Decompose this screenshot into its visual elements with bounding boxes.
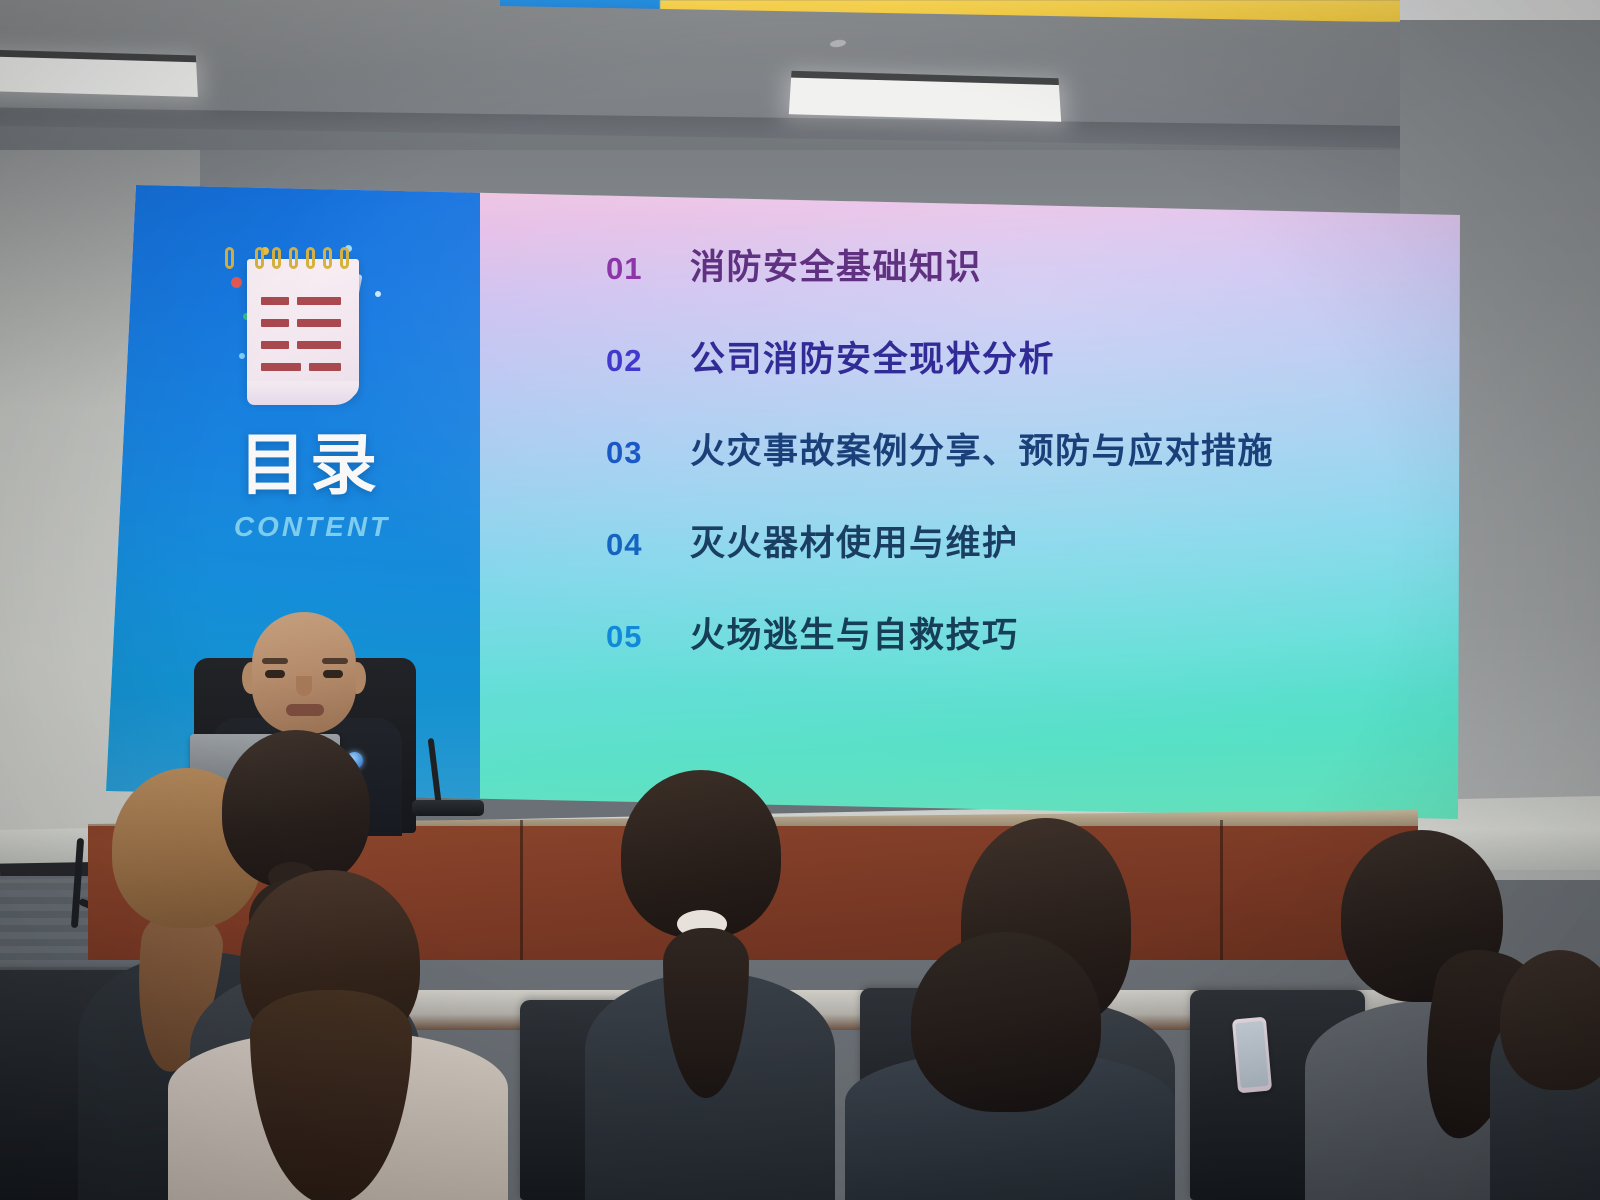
notepad-ring: [225, 247, 234, 269]
notepad-ring: [272, 247, 281, 269]
agenda-item-label: 公司消防安全现状分析: [690, 331, 1055, 382]
audience-head: [1500, 950, 1600, 1090]
agenda-item: 04 灭火器材使用与维护: [606, 515, 1426, 607]
notepad-text-line: [261, 341, 289, 349]
audience-member: [845, 932, 1175, 1200]
agenda-item: 05 火场逃生与自救技巧: [606, 607, 1426, 699]
audience-member: [168, 870, 508, 1200]
audience-head: [911, 932, 1101, 1112]
ceiling-light-panel-left: [0, 55, 198, 97]
notepad-paper: [247, 259, 359, 399]
presenter-brow-right: [322, 658, 348, 664]
audience-member: [585, 770, 835, 1200]
notepad-ring: [306, 247, 315, 269]
agenda-item: 01 消防安全基础知识: [606, 239, 1426, 331]
presenter-eye-left: [265, 670, 285, 678]
agenda-item-label: 灭火器材使用与维护: [690, 515, 1019, 566]
notepad-text-line: [261, 319, 289, 327]
spark-dot-red: [231, 277, 242, 288]
agenda-item-number: 01: [606, 251, 664, 287]
smartphone-screen: [1235, 1021, 1269, 1088]
agenda-item: 02 公司消防安全现状分析: [606, 331, 1426, 423]
notepad-text-line: [297, 341, 341, 349]
slide-title-en: CONTENT: [234, 511, 390, 543]
notepad-text-line: [297, 319, 341, 327]
slide-title-cn: 目录: [239, 432, 381, 499]
agenda-item-number: 04: [606, 527, 664, 563]
notepad-ring: [289, 247, 298, 269]
agenda-item-number: 02: [606, 343, 664, 379]
audience-group: [0, 700, 1600, 1200]
agenda-item-number: 03: [606, 435, 664, 471]
notepad-ring: [255, 247, 264, 269]
agenda-item-label: 火灾事故案例分享、预防与应对措施: [690, 423, 1274, 474]
slide-agenda-list: 01 消防安全基础知识 02 公司消防安全现状分析 03 火灾事故案例分享、预防…: [606, 239, 1426, 699]
notepad-ring: [323, 247, 332, 269]
notepad-page-curl: [247, 381, 359, 405]
audience-member: [1490, 950, 1600, 1200]
spark-dot-pale: [375, 291, 381, 297]
notepad-ring: [340, 247, 349, 269]
notepad-text-line: [261, 297, 289, 305]
agenda-item-number: 05: [606, 619, 664, 655]
agenda-item: 03 火灾事故案例分享、预防与应对措施: [606, 423, 1426, 515]
agenda-item-label: 消防安全基础知识: [690, 239, 982, 290]
presenter-nose: [296, 676, 312, 696]
presenter-eye-right: [323, 670, 343, 678]
notepad-text-line: [297, 297, 341, 305]
presenter-brow-left: [262, 658, 288, 664]
notepad-text-line: [261, 363, 301, 371]
spark-dot-blue: [239, 353, 245, 359]
notepad-text-line: [309, 363, 341, 371]
ceiling-light-panel-center: [789, 77, 1061, 122]
conference-room-scene: 目录 CONTENT 01 消防安全基础知识 02 公司消防安全现状分析 03 …: [0, 0, 1600, 1200]
notepad-icon: [225, 241, 395, 416]
smartphone[interactable]: [1232, 1017, 1272, 1094]
agenda-item-label: 火场逃生与自救技巧: [690, 607, 1019, 658]
